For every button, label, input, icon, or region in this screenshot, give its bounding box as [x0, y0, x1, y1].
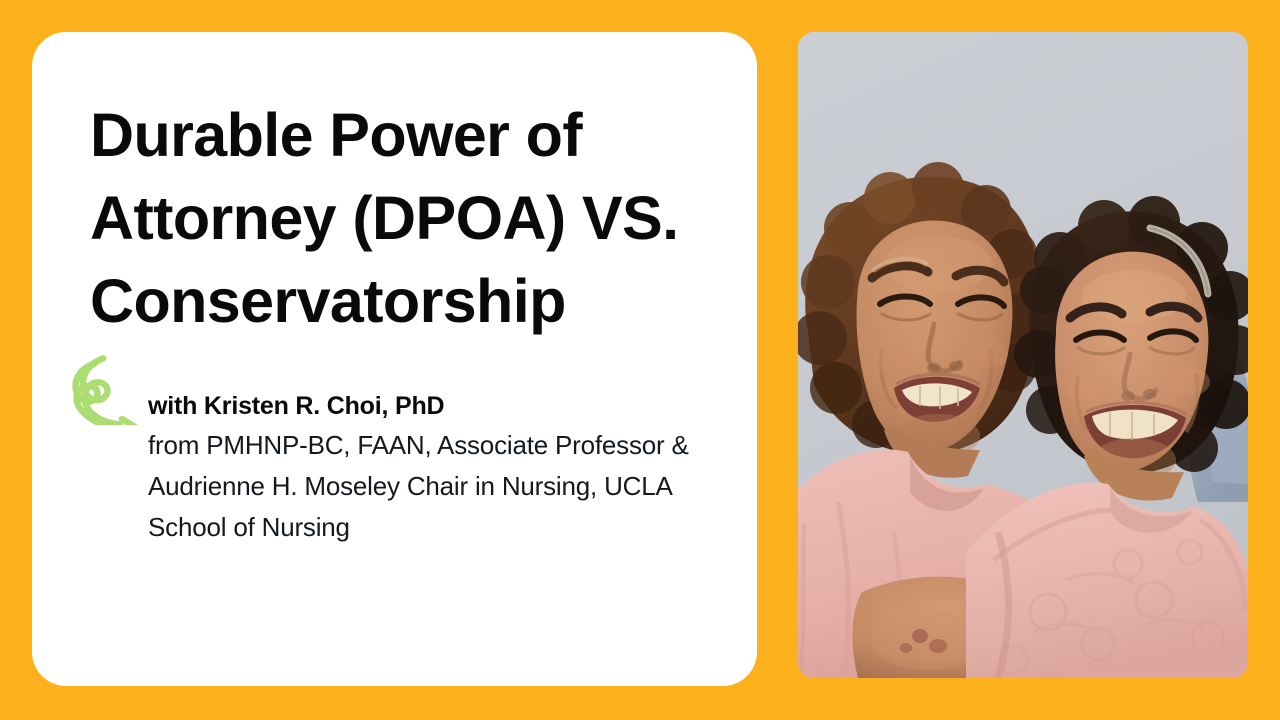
text-card: Durable Power of Attorney (DPOA) VS. Con…: [32, 32, 757, 686]
presenter-credit: with Kristen R. Choi, PhD from PMHNP-BC,…: [148, 387, 748, 548]
page-title: Durable Power of Attorney (DPOA) VS. Con…: [90, 94, 730, 343]
presenter-details: from PMHNP-BC, FAAN, Associate Professor…: [148, 425, 748, 548]
presenter-name: with Kristen R. Choi, PhD: [148, 387, 748, 425]
presenter-photo: [798, 32, 1248, 678]
slide-canvas: Durable Power of Attorney (DPOA) VS. Con…: [0, 0, 1280, 720]
